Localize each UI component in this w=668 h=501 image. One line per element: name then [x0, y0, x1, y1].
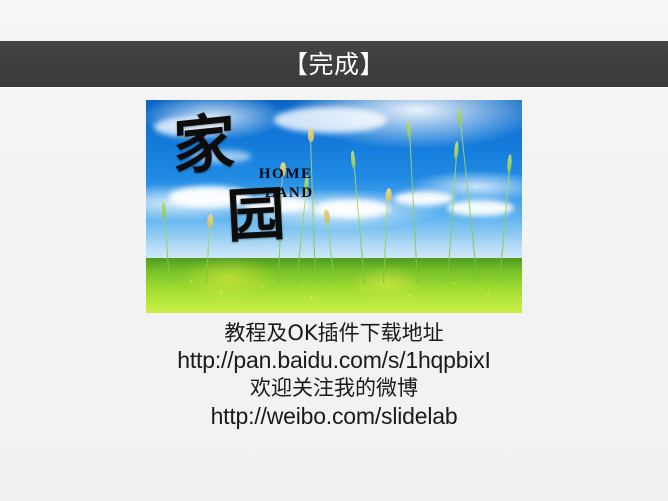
grass-stalk	[296, 186, 308, 284]
grass-stalk	[163, 211, 169, 283]
caption-weibo-label: 欢迎关注我的微博	[0, 375, 668, 401]
grass-stalk	[326, 220, 335, 284]
caption-weibo-link[interactable]: http://weibo.com/slidelab	[0, 402, 668, 431]
caption-block: 教程及OK插件下载地址 http://pan.baidu.com/s/1hqpb…	[0, 320, 668, 431]
page-title: 【完成】	[283, 52, 385, 77]
grass-stalk	[206, 224, 211, 284]
grass-stalk	[310, 138, 316, 283]
grass-stalk	[278, 172, 283, 283]
homeland-photo: 家 园 HOME LAND	[146, 100, 522, 313]
slide-canvas: 【完成】	[0, 0, 668, 501]
grass-stalks-group	[146, 100, 522, 313]
caption-baidu-link[interactable]: http://pan.baidu.com/s/1hqpbixI	[0, 346, 668, 375]
grass-stalk	[353, 160, 365, 283]
grass-stalk	[383, 198, 389, 283]
grass-stalk	[409, 130, 418, 283]
hero-image-frame: 家 园 HOME LAND	[146, 100, 522, 313]
grass-stalk	[460, 118, 479, 283]
grass-stalk	[499, 164, 511, 283]
grass-stalk	[447, 151, 458, 283]
caption-tutorial-label: 教程及OK插件下载地址	[0, 320, 668, 346]
slide-header-bar: 【完成】	[0, 41, 668, 87]
